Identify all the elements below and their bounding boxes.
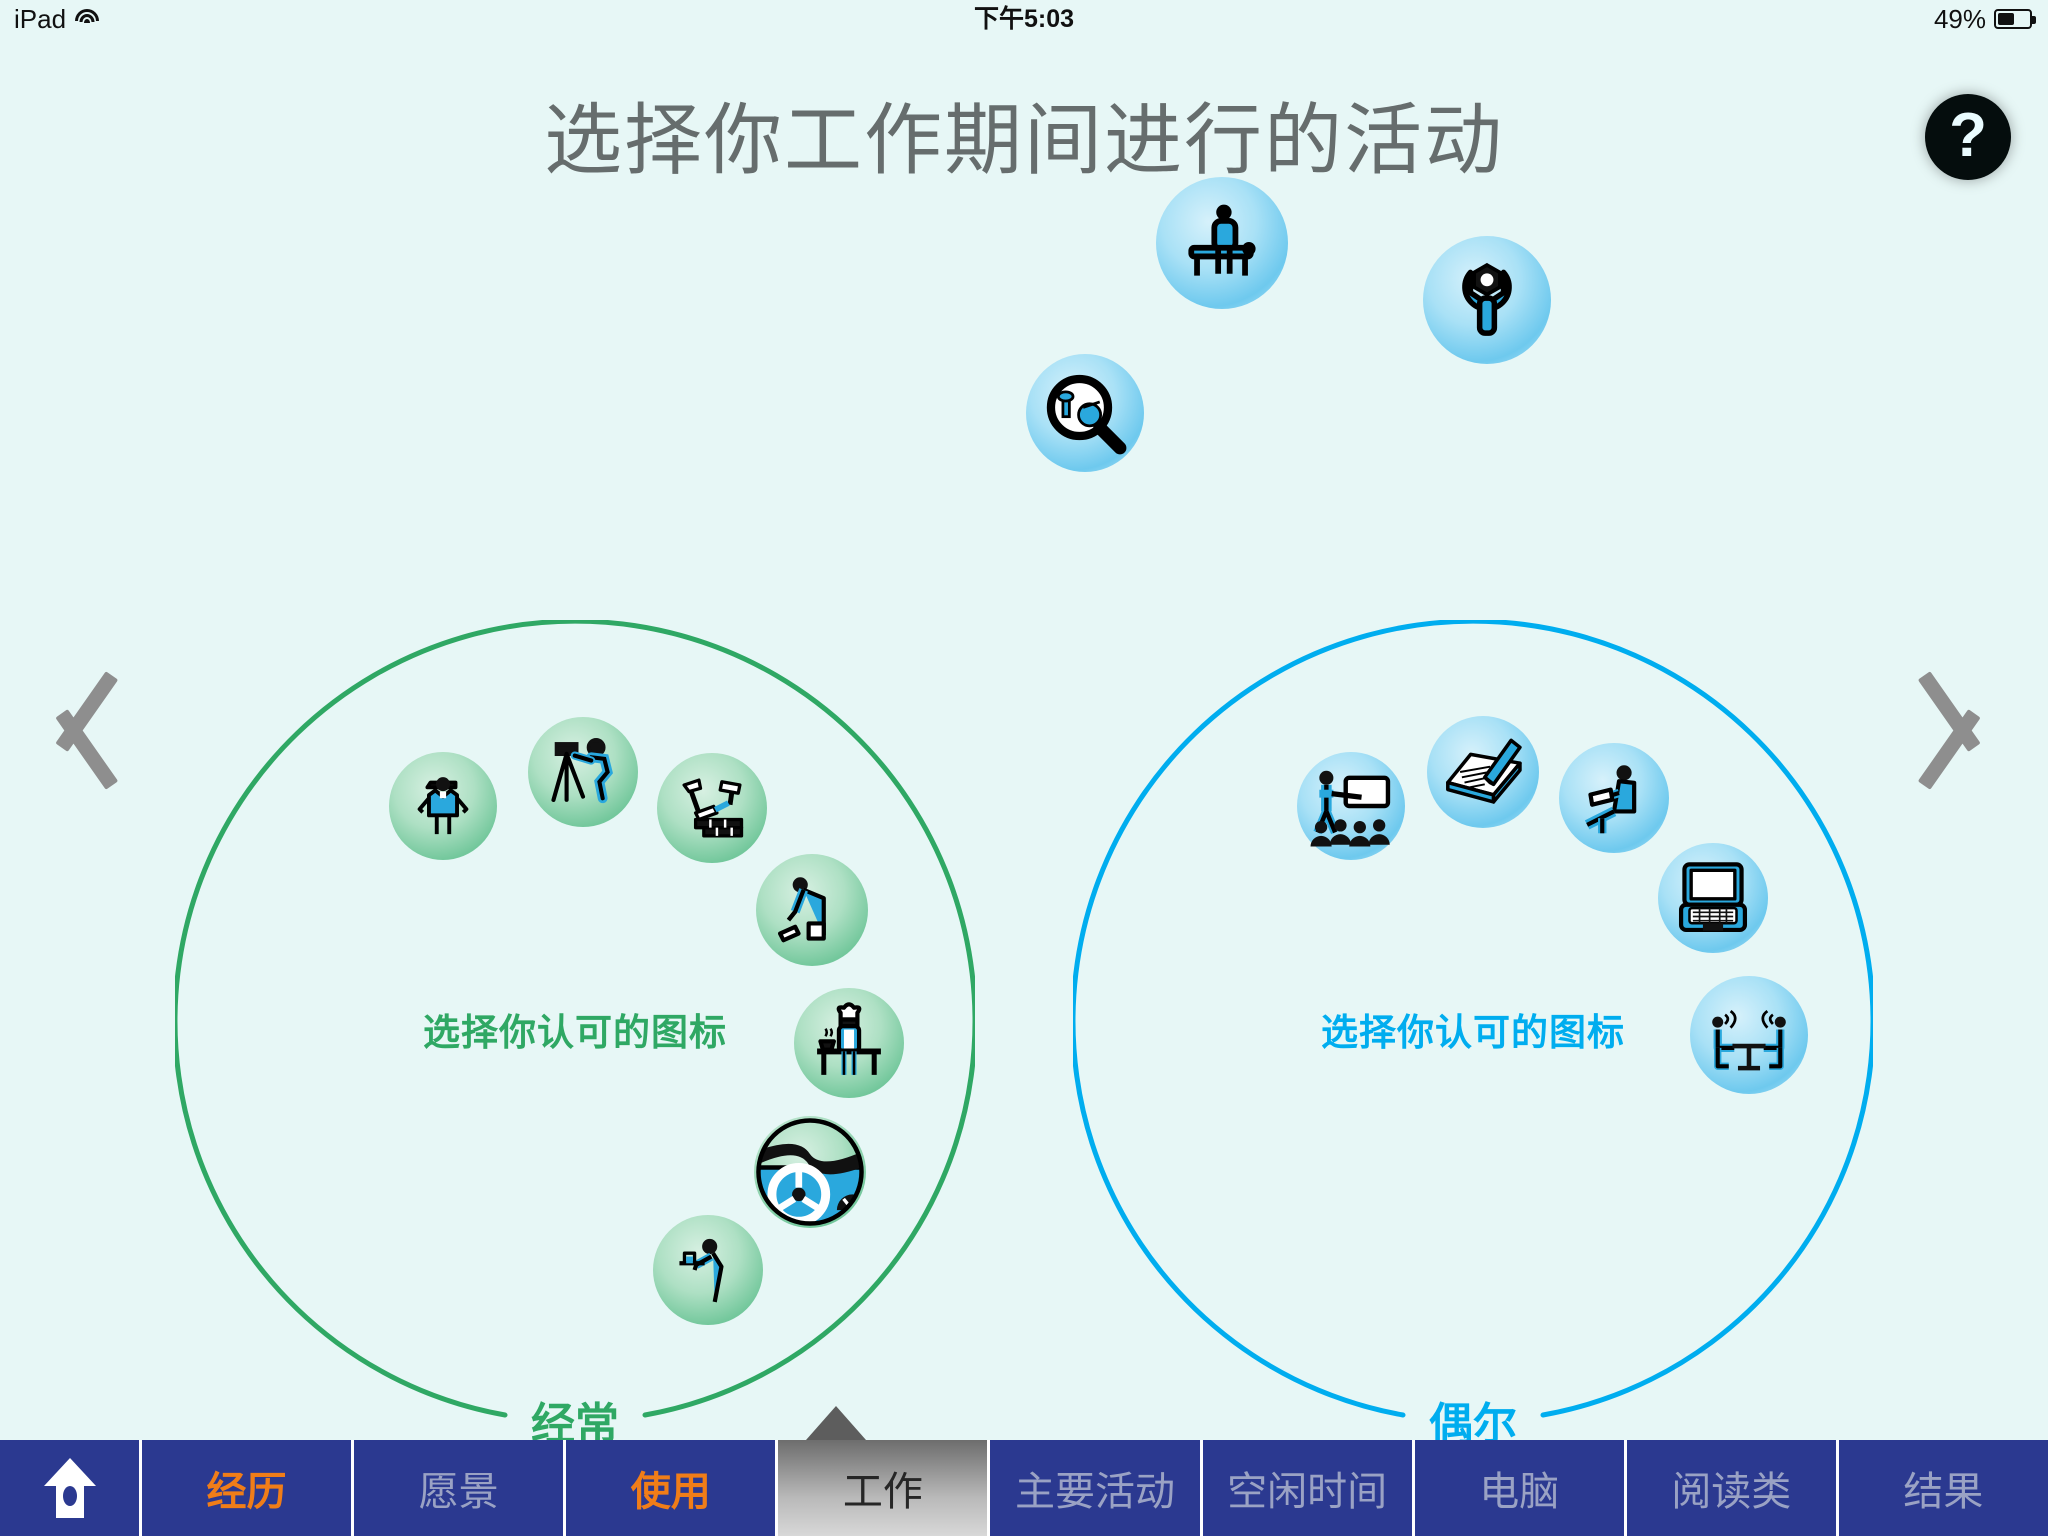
tab-results[interactable]: 结果 <box>1839 1440 2048 1536</box>
chef-cooking-icon[interactable] <box>794 988 904 1098</box>
conversation-table-icon[interactable] <box>1690 976 1808 1094</box>
active-tab-pointer <box>806 1406 866 1440</box>
wrench-nut-icon[interactable] <box>1423 236 1551 364</box>
group-often: 选择你认可的图标 经常 <box>175 620 975 1420</box>
tab-main-activities[interactable]: 主要活动 <box>990 1440 1202 1536</box>
driving-steering-icon[interactable] <box>754 1116 866 1228</box>
tab-reading[interactable]: 阅读类 <box>1627 1440 1839 1536</box>
magnifier-craft-icon[interactable] <box>1026 354 1144 472</box>
tab-work[interactable]: 工作 <box>778 1440 990 1536</box>
laptop-computer-icon[interactable] <box>1658 843 1768 953</box>
tab-experience[interactable]: 经历 <box>142 1440 354 1536</box>
home-icon <box>40 1456 100 1520</box>
status-right: 49% <box>1934 0 2032 38</box>
chevron-left-icon[interactable] <box>44 610 116 850</box>
status-bar: iPad 下午5:03 49% <box>0 0 2048 38</box>
tab-computer[interactable]: 电脑 <box>1415 1440 1627 1536</box>
presentation-audience-icon[interactable] <box>1297 752 1405 860</box>
security-officer-icon[interactable] <box>389 752 497 860</box>
battery-icon <box>1994 9 2032 29</box>
chevron-right-icon[interactable] <box>1920 610 1992 850</box>
help-button[interactable]: ? <box>1925 94 2011 180</box>
bench-sitting-icon[interactable] <box>1156 177 1288 309</box>
writing-pen-icon[interactable] <box>1427 716 1539 828</box>
surveyor-tripod-icon[interactable] <box>528 717 638 827</box>
status-time: 下午5:03 <box>0 0 2048 38</box>
group-sometimes: 选择你认可的图标 偶尔 <box>1073 620 1873 1420</box>
bottom-nav: 经历 愿景 使用 工作 主要活动 空闲时间 电脑 阅读类 结果 <box>0 1440 2048 1536</box>
tab-vision[interactable]: 愿景 <box>354 1440 566 1536</box>
seated-reading-icon[interactable] <box>1559 743 1669 853</box>
page-title: 选择你工作期间进行的活动 <box>0 78 2048 190</box>
tab-free-time[interactable]: 空闲时间 <box>1203 1440 1415 1536</box>
home-button[interactable] <box>0 1440 142 1536</box>
waiter-tray-icon[interactable] <box>653 1215 763 1325</box>
battery-percent: 49% <box>1934 0 1986 38</box>
mopping-cleaning-icon[interactable] <box>756 854 868 966</box>
tab-usage[interactable]: 使用 <box>566 1440 778 1536</box>
app-screen: iPad 下午5:03 49% 选择你工作期间进行的活动 ? <box>0 0 2048 1536</box>
construction-tools-icon[interactable] <box>657 753 767 863</box>
